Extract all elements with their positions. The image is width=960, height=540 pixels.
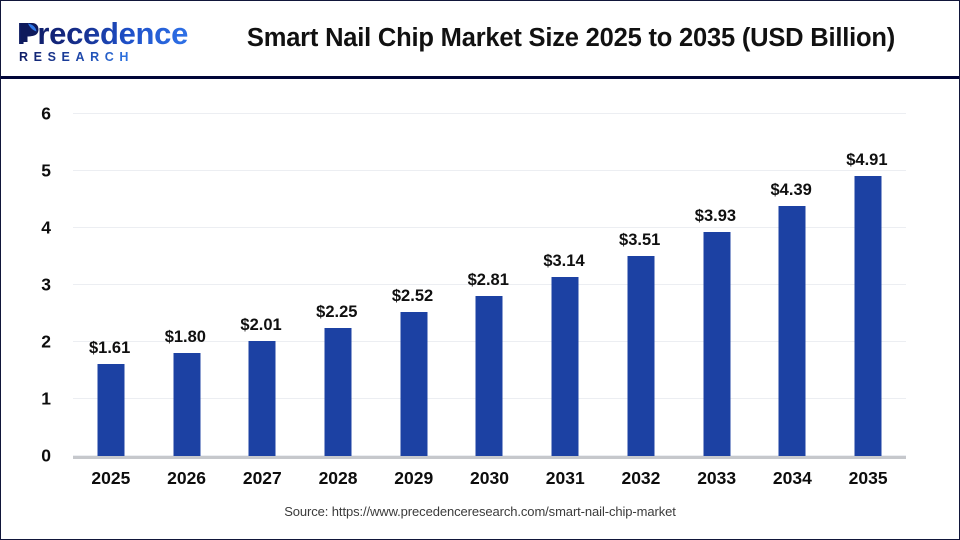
precedence-research-logo: Precedence RESEARCH: [17, 17, 169, 67]
bar[interactable]: [173, 353, 200, 456]
x-axis-tick-label: 2029: [394, 468, 433, 489]
x-axis-tick-label: 2025: [91, 468, 130, 489]
bar-group: $3.142031: [527, 114, 603, 456]
y-axis-tick-label: 3: [41, 275, 51, 296]
logo-wordmark: Precedence: [17, 17, 188, 51]
bar[interactable]: [627, 256, 654, 456]
x-axis-tick-label: 2034: [773, 468, 812, 489]
bar-value-label: $3.93: [695, 207, 736, 226]
x-axis-tick-label: 2033: [697, 468, 736, 489]
bar-group: $4.912035: [830, 114, 906, 456]
bar-group: $1.802026: [149, 114, 225, 456]
x-axis-tick-label: 2030: [470, 468, 509, 489]
y-axis-tick-label: 1: [41, 389, 51, 410]
y-axis-tick-label: 5: [41, 161, 51, 182]
x-axis-tick-label: 2027: [243, 468, 282, 489]
bar-value-label: $2.25: [316, 303, 357, 322]
bar-value-label: $1.80: [165, 328, 206, 347]
logo-subtitle: RESEARCH: [19, 50, 134, 65]
bar[interactable]: [552, 277, 579, 456]
page-title: Smart Nail Chip Market Size 2025 to 2035…: [201, 1, 941, 76]
bar-group: $1.612025: [73, 114, 149, 456]
bar[interactable]: [476, 296, 503, 456]
plot-area: 0123456 $1.612025$1.802026$2.012027$2.25…: [73, 114, 906, 456]
figure-header: Precedence RESEARCH Smart Nail Chip Mark…: [1, 1, 959, 79]
bar-value-label: $4.91: [846, 151, 887, 170]
plot-region: 0123456 $1.612025$1.802026$2.012027$2.25…: [1, 79, 959, 539]
bar-value-label: $2.52: [392, 287, 433, 306]
bar[interactable]: [325, 328, 352, 456]
y-axis-tick-label: 0: [41, 446, 51, 467]
bar-group: $3.932033: [679, 114, 755, 456]
bar-group: $4.392034: [755, 114, 831, 456]
x-axis-tick-label: 2031: [546, 468, 585, 489]
x-axis-tick-label: 2032: [621, 468, 660, 489]
bar-value-label: $2.01: [240, 316, 281, 335]
chart-figure: Precedence RESEARCH Smart Nail Chip Mark…: [0, 0, 960, 540]
bar-value-label: $2.81: [468, 271, 509, 290]
x-axis-tick-label: 2028: [319, 468, 358, 489]
bar-value-label: $4.39: [771, 181, 812, 200]
bar-group: $2.252028: [300, 114, 376, 456]
x-axis-tick-label: 2035: [849, 468, 888, 489]
y-axis-tick-label: 4: [41, 218, 51, 239]
bar[interactable]: [249, 341, 276, 456]
bar[interactable]: [97, 364, 124, 456]
source-caption: Source: https://www.precedenceresearch.c…: [1, 504, 959, 519]
bar-value-label: $3.51: [619, 231, 660, 250]
bar-group: $2.812030: [452, 114, 528, 456]
bar-group: $2.522029: [376, 114, 452, 456]
y-axis-tick-label: 2: [41, 332, 51, 353]
bar-value-label: $1.61: [89, 339, 130, 358]
bar-group: $2.012027: [224, 114, 300, 456]
bar[interactable]: [400, 312, 427, 456]
bar-value-label: $3.14: [543, 252, 584, 271]
x-axis-baseline: [73, 456, 906, 459]
bar[interactable]: [779, 206, 806, 456]
bar[interactable]: [703, 232, 730, 456]
bar[interactable]: [855, 176, 882, 456]
y-axis-tick-label: 6: [41, 104, 51, 125]
x-axis-tick-label: 2026: [167, 468, 206, 489]
bar-group: $3.512032: [603, 114, 679, 456]
